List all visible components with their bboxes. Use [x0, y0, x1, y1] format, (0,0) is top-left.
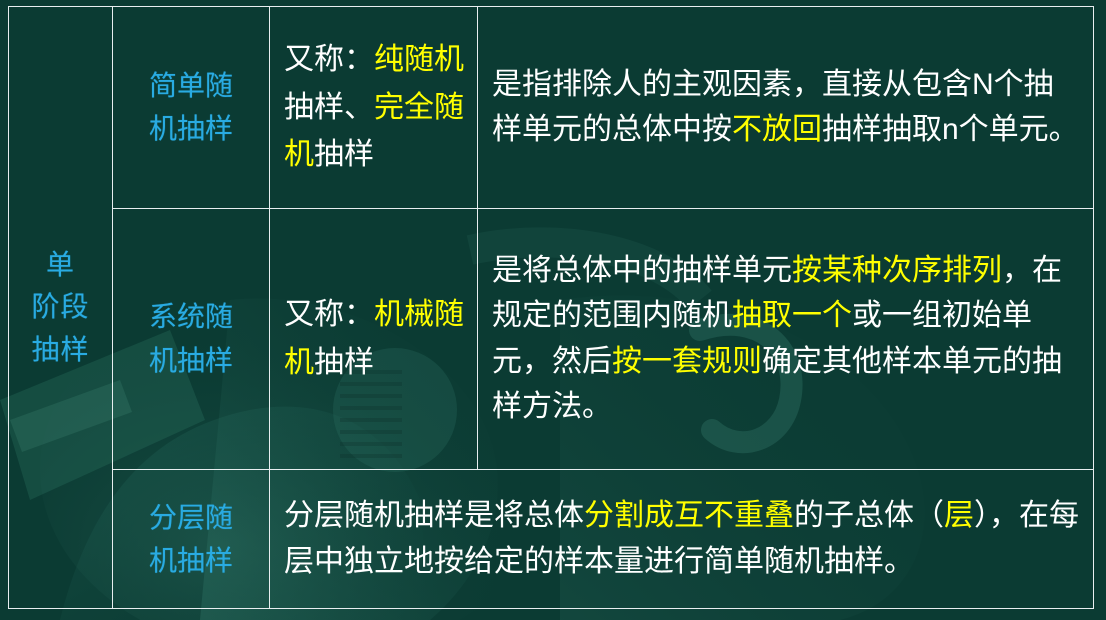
method-name-line-1b: 机抽样: [119, 107, 263, 150]
method-name-cell-2: 系统随 机抽样: [113, 208, 270, 469]
stage-category-label: 简单随 单 阶段 抽样: [9, 244, 112, 372]
desc-seg: 的子总体（: [794, 499, 944, 532]
alias-seg-hl: 机械: [374, 298, 434, 331]
method-name-label-3: 分层随 机抽样: [113, 496, 269, 583]
desc-seg: 抽样抽取n个单元。: [822, 113, 1079, 146]
method-name-line-2b: 机抽样: [119, 339, 263, 382]
table-row: 简单随 单 阶段 抽样 简单随 机抽样: [9, 7, 1094, 209]
alias-seg: 又称：: [284, 43, 374, 76]
method-name-cell-1: 简单随 机抽样: [113, 7, 270, 209]
stage-line-3: 抽样: [13, 329, 108, 372]
method-description-cell-2: 是将总体中的抽样单元按某种次序排列，在规定的范围内随机抽取一个或一组初始单元，然…: [478, 208, 1094, 469]
desc-seg-hl: 抽取一个: [732, 299, 852, 332]
method-description-cell-3: 分层随机抽样是将总体分割成互不重叠的子总体（层），在每层中独立地按给定的样本量进…: [270, 469, 1094, 608]
method-description-text-3: 分层随机抽样是将总体分割成互不重叠的子总体（层），在每层中独立地按给定的样本量进…: [270, 487, 1093, 590]
desc-seg-hl: 按一套规则: [612, 345, 762, 378]
method-name-line-2a: 系统随: [119, 295, 263, 338]
desc-seg-hl: 层: [944, 499, 974, 532]
stage-category-cell: 简单随 单 阶段 抽样: [9, 7, 113, 609]
desc-seg-hl: 按某种次序排列: [792, 254, 1002, 287]
method-name-label-2: 系统随 机抽样: [113, 295, 269, 382]
method-name-label-1: 简单随 机抽样: [113, 64, 269, 151]
table-row: 分层随 机抽样 分层随机抽样是将总体分割成互不重叠的子总体（层），在每层中独立地…: [9, 469, 1094, 608]
alias-seg: 抽样: [314, 346, 374, 379]
method-description-text-2: 是将总体中的抽样单元按某种次序排列，在规定的范围内随机抽取一个或一组初始单元，然…: [478, 242, 1093, 436]
method-alias-cell-2: 又称：机械随机抽样: [270, 208, 478, 469]
method-alias-text-2: 又称：机械随机抽样: [270, 287, 477, 390]
method-name-line-3b: 机抽样: [119, 539, 263, 582]
alias-seg: 抽样: [314, 138, 374, 171]
method-name-line-3a: 分层随: [119, 496, 263, 539]
desc-seg-hl: 不放回: [732, 113, 822, 146]
desc-seg-hl: 分割成互不重叠: [584, 499, 794, 532]
stage-line-1: 单: [13, 244, 108, 287]
method-name-line-1a: 简单随: [119, 64, 263, 107]
alias-seg: 又称：: [284, 298, 374, 331]
desc-seg: 是将总体中的抽样单元: [492, 254, 792, 287]
method-name-cell-3: 分层随 机抽样: [113, 469, 270, 608]
desc-seg: 分层随机抽样是将总体: [284, 499, 584, 532]
method-alias-text-1: 又称：纯随机抽样、完全随机抽样: [270, 32, 477, 182]
stage-line-2: 阶段: [13, 286, 108, 329]
method-description-cell-1: 是指排除人的主观因素，直接从包含N个抽样单元的总体中按不放回抽样抽取n个单元。: [478, 7, 1094, 209]
alias-seg: 抽样、: [284, 91, 374, 124]
table-row: 系统随 机抽样 又称：机械随机抽样 是将总体中的抽样单元按某种次序排列，在规定的…: [9, 208, 1094, 469]
slide-canvas: 简单随 单 阶段 抽样 简单随 机抽样: [0, 0, 1106, 620]
alias-seg-hl: 完: [374, 91, 404, 124]
alias-seg-hl: 纯随: [374, 43, 434, 76]
alias-seg-hl: 机: [434, 43, 464, 76]
method-description-text-1: 是指排除人的主观因素，直接从包含N个抽样单元的总体中按不放回抽样抽取n个单元。: [478, 56, 1093, 159]
method-alias-cell-1: 又称：纯随机抽样、完全随机抽样: [270, 7, 478, 209]
sampling-methods-table: 简单随 单 阶段 抽样 简单随 机抽样: [8, 6, 1094, 609]
